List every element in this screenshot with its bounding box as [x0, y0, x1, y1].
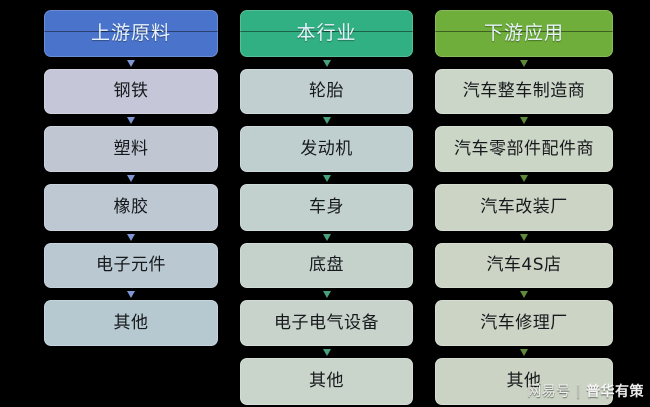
industry-chain-diagram: 上游原料钢铁塑料橡胶电子元件其他本行业轮胎发动机车身底盘电子电气设备其他下游应用…	[0, 0, 650, 407]
chain-node-label: 钢铁	[114, 83, 149, 100]
chain-column-industry: 本行业轮胎发动机车身底盘电子电气设备其他	[240, 0, 413, 405]
chain-node-label: 汽车改装厂	[480, 199, 568, 216]
chain-node[interactable]: 塑料	[44, 126, 218, 172]
flow-arrow-down-icon	[44, 288, 218, 300]
column-header-industry[interactable]: 本行业	[240, 10, 413, 57]
column-header-downstream[interactable]: 下游应用	[435, 10, 613, 57]
chain-node-label: 电子元件	[96, 257, 166, 274]
chain-node-label: 底盘	[309, 257, 344, 274]
arrow-triangle	[323, 175, 331, 182]
chain-node[interactable]: 其他	[240, 358, 413, 405]
column-header-label: 上游原料	[91, 24, 171, 43]
chain-column-upstream: 上游原料钢铁塑料橡胶电子元件其他	[44, 0, 218, 346]
arrow-triangle	[127, 234, 135, 241]
flow-arrow-down-icon	[435, 231, 613, 243]
chain-node-label: 其他	[309, 373, 344, 390]
chain-node[interactable]: 汽车零部件配件商	[435, 126, 613, 172]
chain-node-label: 轮胎	[309, 83, 344, 100]
flow-arrow-down-icon	[44, 114, 218, 126]
column-header-label: 本行业	[296, 24, 356, 43]
flow-arrow-down-icon	[240, 288, 413, 300]
arrow-triangle	[520, 291, 528, 298]
flow-arrow-down-icon	[435, 172, 613, 184]
chain-node[interactable]: 发动机	[240, 126, 413, 172]
flow-arrow-down-icon	[240, 231, 413, 243]
chain-node-label: 其他	[114, 315, 149, 332]
flow-arrow-down-icon	[435, 288, 613, 300]
column-header-upstream[interactable]: 上游原料	[44, 10, 218, 57]
flow-arrow-down-icon	[240, 172, 413, 184]
flow-arrow-down-icon	[44, 172, 218, 184]
flow-arrow-down-icon	[240, 114, 413, 126]
chain-node[interactable]: 车身	[240, 184, 413, 231]
chain-node[interactable]: 其他	[44, 300, 218, 346]
arrow-triangle	[127, 291, 135, 298]
arrow-triangle	[323, 291, 331, 298]
chain-node[interactable]: 底盘	[240, 243, 413, 288]
arrow-triangle	[323, 117, 331, 124]
arrow-triangle	[323, 349, 331, 356]
chain-node-label: 塑料	[114, 141, 149, 158]
flow-arrow-down-icon	[44, 57, 218, 69]
flow-arrow-down-icon	[240, 57, 413, 69]
flow-arrow-down-icon	[240, 346, 413, 358]
chain-node[interactable]: 汽车改装厂	[435, 184, 613, 231]
chain-node-label: 汽车4S店	[486, 257, 561, 274]
chain-node[interactable]: 汽车4S店	[435, 243, 613, 288]
arrow-triangle	[520, 117, 528, 124]
arrow-triangle	[323, 234, 331, 241]
arrow-triangle	[520, 349, 528, 356]
arrow-triangle	[520, 60, 528, 67]
arrow-triangle	[520, 175, 528, 182]
chain-node-label: 汽车整车制造商	[463, 83, 586, 100]
chain-node[interactable]: 电子电气设备	[240, 300, 413, 346]
chain-node[interactable]: 橡胶	[44, 184, 218, 231]
flow-arrow-down-icon	[44, 231, 218, 243]
chain-node-label: 橡胶	[114, 199, 149, 216]
chain-node-label: 汽车零部件配件商	[454, 141, 594, 158]
arrow-triangle	[127, 60, 135, 67]
arrow-triangle	[127, 117, 135, 124]
chain-node-label: 车身	[309, 199, 344, 216]
flow-arrow-down-icon	[435, 57, 613, 69]
flow-arrow-down-icon	[435, 114, 613, 126]
chain-node[interactable]: 其他	[435, 358, 613, 405]
chain-node[interactable]: 汽车整车制造商	[435, 69, 613, 114]
chain-node[interactable]: 轮胎	[240, 69, 413, 114]
chain-node[interactable]: 钢铁	[44, 69, 218, 114]
flow-arrow-down-icon	[435, 346, 613, 358]
arrow-triangle	[127, 175, 135, 182]
arrow-triangle	[323, 60, 331, 67]
chain-node-label: 发动机	[300, 141, 353, 158]
chain-column-downstream: 下游应用汽车整车制造商汽车零部件配件商汽车改装厂汽车4S店汽车修理厂其他	[435, 0, 613, 405]
chain-node-label: 汽车修理厂	[480, 315, 568, 332]
chain-node[interactable]: 电子元件	[44, 243, 218, 288]
chain-node-label: 其他	[507, 373, 542, 390]
arrow-triangle	[520, 234, 528, 241]
chain-node-label: 电子电气设备	[274, 315, 379, 332]
chain-node[interactable]: 汽车修理厂	[435, 300, 613, 346]
column-header-label: 下游应用	[484, 24, 564, 43]
